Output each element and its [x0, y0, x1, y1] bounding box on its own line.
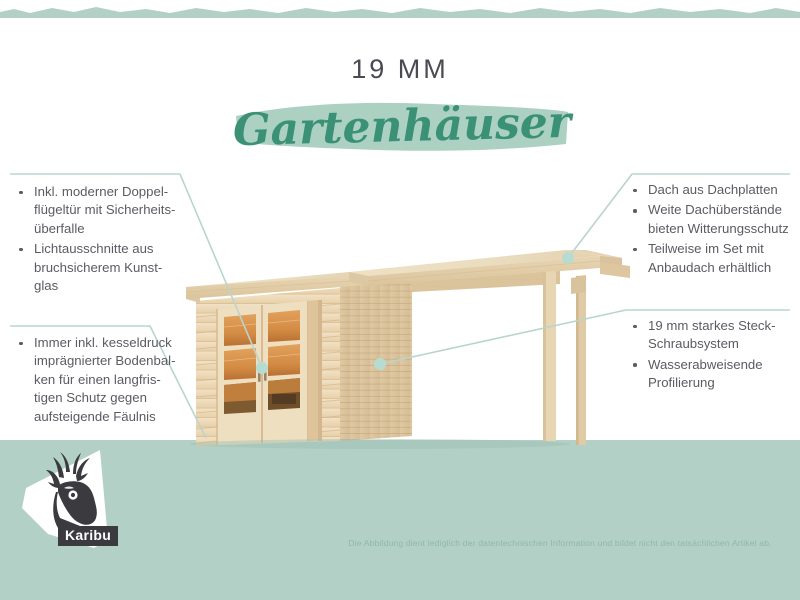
- callout-top-right-list: Dach aus Dachplatten Weite Dachüberständ…: [624, 181, 800, 277]
- door-handle-right[interactable]: [264, 365, 267, 381]
- callout-bottom-left-list: Immer inkl. kesseldruck imprägnierter Bo…: [12, 334, 187, 426]
- callout-top-left-list: Inkl. moderner Doppel- flügeltür mit Sic…: [12, 183, 197, 295]
- door-glass-left: [224, 314, 256, 414]
- list-item: 19 mm starkes Steck- Schraubsystem: [624, 317, 800, 354]
- brand-logo[interactable]: Karibu: [18, 448, 128, 556]
- callout-bottom-right: 19 mm starkes Steck- Schraubsystem Wasse…: [624, 317, 800, 395]
- product-infographic: 19 MM Gartenhäuser Inkl. moderner Doppel…: [0, 0, 800, 600]
- list-item: Immer inkl. kesseldruck imprägnierter Bo…: [12, 334, 187, 426]
- list-item: Weite Dachüberstände bieten Witterungssc…: [624, 201, 800, 238]
- page-kicker: 19 MM: [0, 54, 800, 85]
- door-jamb: [308, 300, 318, 441]
- page-title-wrap: Gartenhäuser: [232, 96, 572, 160]
- disclaimer-text: Die Abbildung dient lediglich der datent…: [330, 538, 790, 548]
- callout-top-right: Dach aus Dachplatten Weite Dachüberständ…: [624, 181, 800, 279]
- door-glass-right: [268, 310, 300, 410]
- list-item: Inkl. moderner Doppel- flügeltür mit Sic…: [12, 183, 197, 238]
- list-item: Wasserabweisende Profilierung: [624, 356, 800, 393]
- list-item: Teilweise im Set mit Anbaudach erhältlic…: [624, 240, 800, 277]
- callout-bottom-left: Immer inkl. kesseldruck imprägnierter Bo…: [12, 334, 187, 428]
- logo-wordmark: Karibu: [58, 526, 118, 546]
- list-item: Dach aus Dachplatten: [624, 181, 800, 199]
- cabin-side-wall: [340, 282, 410, 441]
- post-brace: [571, 276, 586, 294]
- callout-bottom-right-list: 19 mm starkes Steck- Schraubsystem Wasse…: [624, 317, 800, 393]
- list-item: Lichtausschnitte aus bruchsicherem Kunst…: [12, 240, 197, 295]
- carport-open-bay: [412, 284, 560, 436]
- house-shadow: [190, 439, 570, 449]
- page-title: Gartenhäuser: [231, 92, 572, 164]
- callout-top-left: Inkl. moderner Doppel- flügeltür mit Sic…: [12, 183, 197, 297]
- door-handle-left[interactable]: [258, 366, 261, 382]
